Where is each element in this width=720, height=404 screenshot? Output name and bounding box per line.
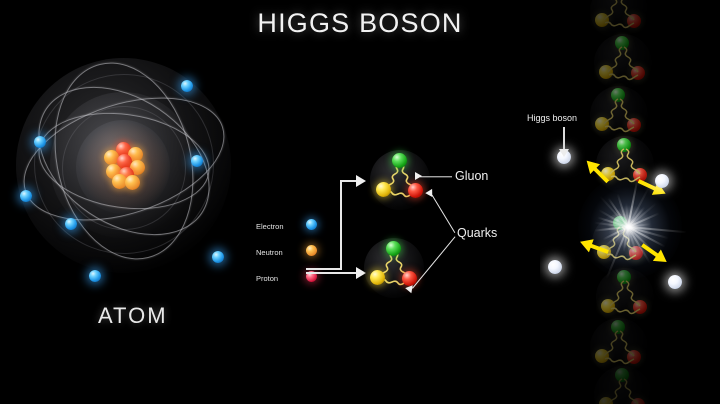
quark-particle — [386, 241, 401, 256]
quark-particle — [370, 270, 385, 285]
electron-particle — [20, 190, 32, 202]
electron-particle — [181, 80, 193, 92]
gluon-squiggle-icon — [594, 366, 652, 404]
electron-particle — [212, 251, 224, 263]
quarks-label: Quarks — [457, 226, 497, 240]
higgs-boson-label: Higgs boson — [527, 113, 577, 123]
electron-particle — [191, 155, 203, 167]
higgs-boson-particle — [548, 260, 562, 274]
higgs-boson-particle — [655, 174, 669, 188]
legend-label: Electron — [256, 222, 284, 231]
gluon-label: Gluon — [455, 169, 488, 183]
electron-particle — [34, 136, 46, 148]
quark-particle — [392, 153, 407, 168]
atom-diagram — [8, 48, 238, 298]
chain-nucleon — [594, 34, 652, 92]
atom-label: ATOM — [98, 303, 168, 329]
higgs-boson-particle — [668, 275, 682, 289]
neutron-nucleon — [370, 150, 430, 210]
quark-particle — [408, 183, 423, 198]
quark-particle — [376, 182, 391, 197]
infographic-canvas: HIGGS BOSON ATOM ElectronNeutronProton — [0, 0, 720, 404]
electron-particle — [89, 270, 101, 282]
electron-swatch-icon — [306, 219, 317, 230]
collision-diagram — [540, 0, 720, 404]
neutron-arrowhead — [356, 175, 366, 187]
electron-particle — [65, 218, 77, 230]
nucleus-neutron — [125, 175, 140, 190]
neutron-connector-h1 — [306, 268, 342, 270]
legend-label: Neutron — [256, 248, 283, 257]
chain-nucleon — [594, 366, 652, 404]
legend-label: Proton — [256, 274, 278, 283]
gluon-pointer — [420, 176, 452, 177]
atom-nucleus — [98, 140, 150, 192]
higgs-boson-pointer-arrowhead — [559, 149, 569, 157]
proton-connector — [306, 272, 358, 274]
proton-nucleon — [364, 238, 424, 298]
neutron-swatch-icon — [306, 245, 317, 256]
gluon-squiggle-icon — [594, 34, 652, 92]
neutron-connector-v — [340, 180, 342, 270]
gluon-pointer-head — [415, 172, 422, 180]
quarks-pointer-top — [431, 194, 455, 233]
higgs-boson-pointer — [563, 127, 565, 151]
